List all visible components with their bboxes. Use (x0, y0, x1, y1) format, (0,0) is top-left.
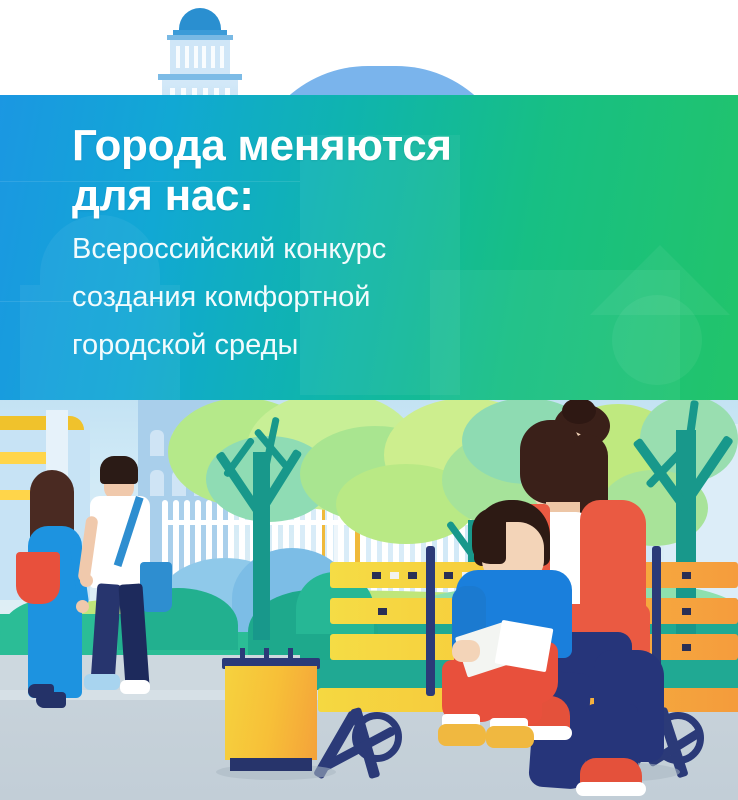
subhead-line-1: Всероссийский конкурс (72, 229, 632, 269)
pedestrian-man (80, 452, 190, 712)
man-hand (80, 574, 93, 587)
bin-slot (288, 648, 293, 658)
child-pant-leg (490, 668, 542, 724)
seated-child (442, 500, 612, 750)
bench-bolt (682, 608, 691, 615)
woman-shoe (28, 684, 54, 698)
child-shoe (486, 726, 534, 748)
open-book-right-page (495, 620, 554, 672)
trash-bin (222, 648, 320, 776)
bin-base (230, 758, 312, 771)
child-shoe (438, 724, 486, 746)
woman-hair-bun-top (562, 398, 596, 424)
bin-body (225, 666, 317, 760)
tree-trunk (253, 452, 270, 640)
child-hand (452, 640, 480, 662)
man-hair (100, 456, 138, 484)
bench-bolt (390, 572, 399, 579)
headline-line-1: Города меняются (72, 121, 632, 171)
subhead-line-3: городской среды (72, 325, 632, 365)
woman-hair (520, 420, 580, 504)
subhead-line-2: создания комфортной (72, 277, 632, 317)
woman-sneaker-sole (576, 782, 646, 796)
bin-slot (264, 648, 269, 658)
banner-text-block: Города меняются для нас: Всероссийский к… (72, 121, 632, 365)
bench-bolt (682, 572, 691, 579)
bench-frame-post (426, 546, 435, 696)
bench-bolt (378, 608, 387, 615)
woman-handbag (16, 552, 60, 604)
man-leg (91, 583, 122, 682)
bench-bolt (682, 644, 691, 651)
bench-bolt (408, 572, 417, 579)
headline-line-2: для нас: (72, 171, 632, 221)
bin-slot (240, 648, 245, 658)
man-shoe (120, 680, 150, 694)
poster-root: Города меняются для нас: Всероссийский к… (0, 0, 738, 800)
child-hair-side (472, 508, 506, 564)
building-arch-trim (0, 416, 84, 430)
bench-bolt (372, 572, 381, 579)
man-shoe (84, 674, 120, 690)
headline-banner: Города меняются для нас: Всероссийский к… (0, 95, 738, 400)
messenger-bag (140, 562, 172, 612)
